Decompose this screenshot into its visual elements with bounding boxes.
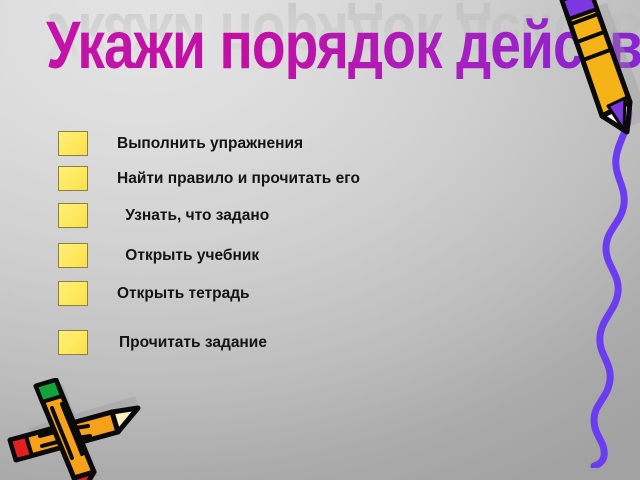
list-item[interactable]: Узнать, что задано bbox=[58, 203, 269, 228]
list-item[interactable]: Открыть учебник bbox=[58, 243, 259, 268]
list-item[interactable]: Найти правило и прочитать его bbox=[58, 166, 360, 191]
slide-canvas: Укажи порядок действия Укажи порядок дей… bbox=[0, 0, 640, 480]
list-item-label: Выполнить упражнения bbox=[117, 135, 303, 153]
list-item[interactable]: Открыть тетрадь bbox=[58, 281, 250, 306]
order-number-box[interactable] bbox=[58, 243, 88, 268]
list-item[interactable]: Выполнить упражнения bbox=[58, 131, 303, 156]
order-number-box[interactable] bbox=[58, 131, 88, 156]
list-item-label: Найти правило и прочитать его bbox=[117, 170, 360, 188]
list-item-label: Открыть тетрадь bbox=[117, 285, 250, 303]
list-item-label: Открыть учебник bbox=[121, 247, 259, 265]
list-item-label: Прочитать задание bbox=[119, 334, 267, 352]
list-item[interactable]: Прочитать задание bbox=[58, 330, 267, 355]
order-number-box[interactable] bbox=[58, 281, 88, 306]
list-item-label: Узнать, что задано bbox=[121, 207, 269, 225]
steps-list: Выполнить упражнения Найти правило и про… bbox=[0, 0, 640, 480]
order-number-box[interactable] bbox=[58, 330, 88, 355]
order-number-box[interactable] bbox=[58, 166, 88, 191]
order-number-box[interactable] bbox=[58, 203, 88, 228]
